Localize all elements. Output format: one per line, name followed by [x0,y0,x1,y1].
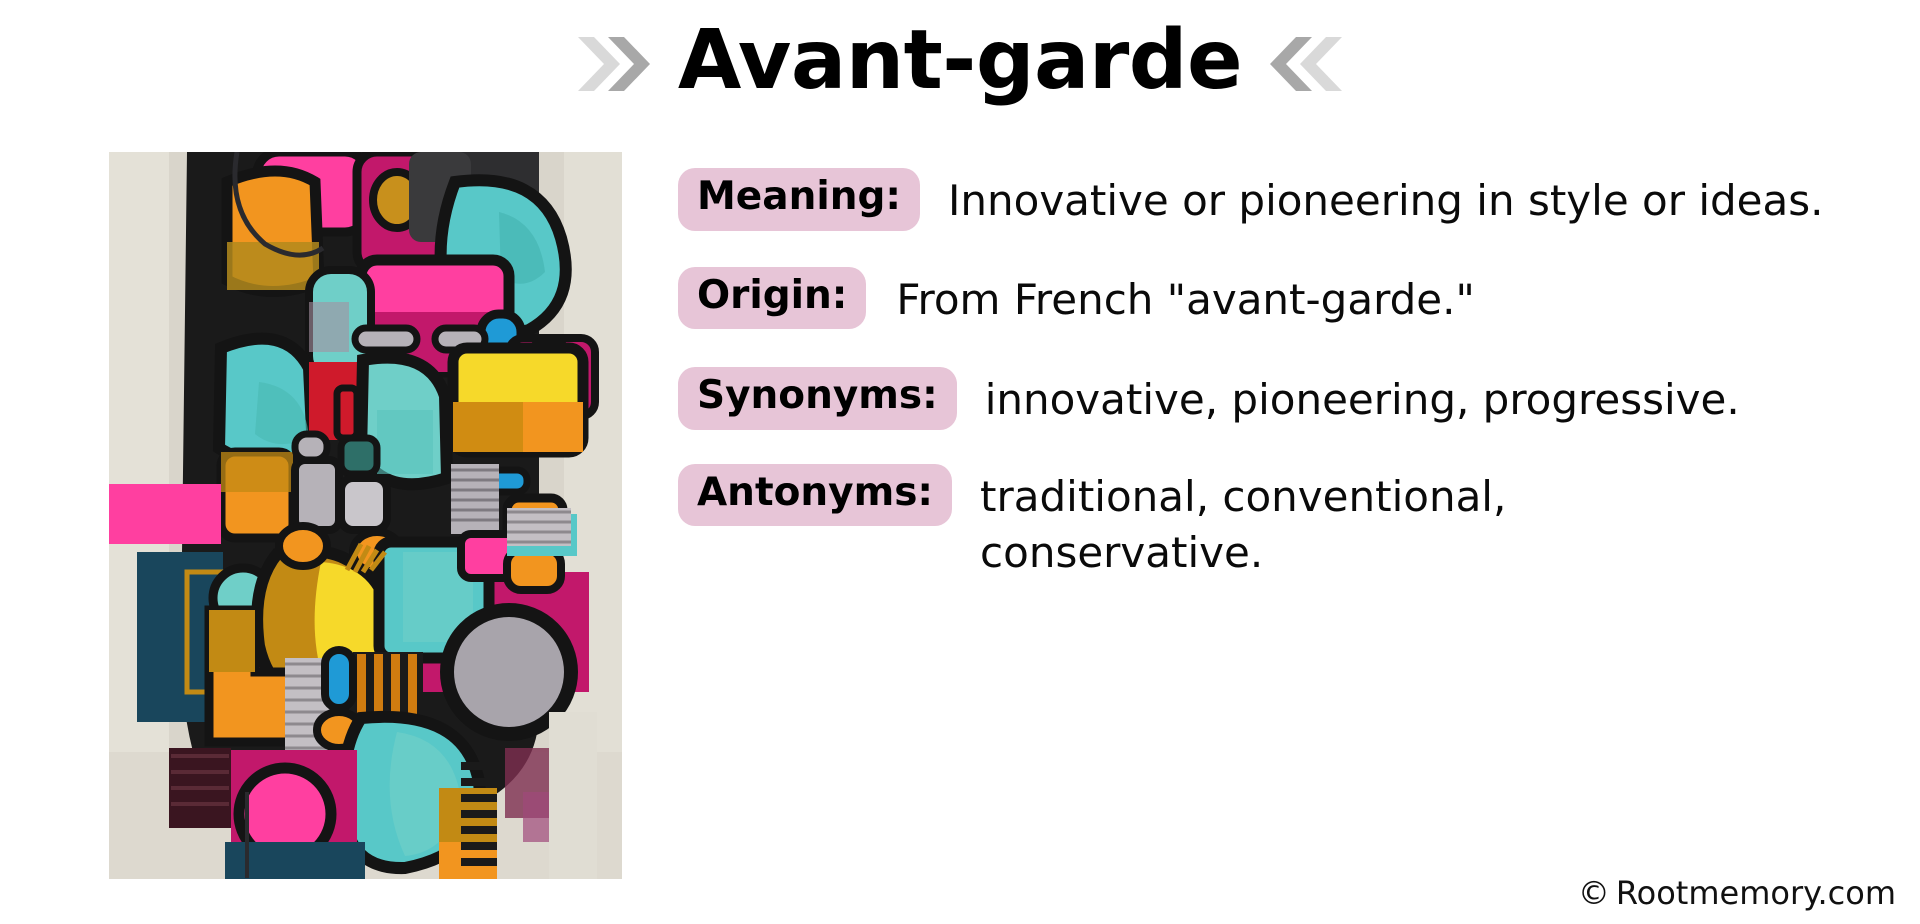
origin-value: From French "avant-garde." [896,267,1858,328]
synonyms-label-badge: Synonyms: [678,367,957,430]
copyright-icon: © [1578,874,1610,912]
antonyms-value: traditional, conventional, conservative. [980,464,1780,581]
double-chevron-left-icon [1268,33,1346,95]
meaning-label-badge: Meaning: [678,168,920,231]
synonyms-value: innovative, pioneering, progressive. [985,367,1745,428]
copyright-footer: ©Rootmemory.com [1578,874,1896,912]
definition-list: Meaning: Innovative or pioneering in sty… [678,168,1858,580]
origin-label-badge: Origin: [678,267,866,330]
page-title-bar: Avant-garde [0,6,1920,121]
definition-row-meaning: Meaning: Innovative or pioneering in sty… [678,168,1858,231]
definition-row-synonyms: Synonyms: innovative, pioneering, progre… [678,367,1858,430]
site-name: Rootmemory.com [1616,874,1896,912]
word-illustration [109,152,622,879]
antonyms-label-badge: Antonyms: [678,464,952,527]
meaning-value: Innovative or pioneering in style or ide… [948,168,1848,229]
definition-row-antonyms: Antonyms: traditional, conventional, con… [678,464,1858,581]
page-title: Avant-garde [678,20,1242,108]
double-chevron-right-icon [574,33,652,95]
definition-row-origin: Origin: From French "avant-garde." [678,267,1858,330]
